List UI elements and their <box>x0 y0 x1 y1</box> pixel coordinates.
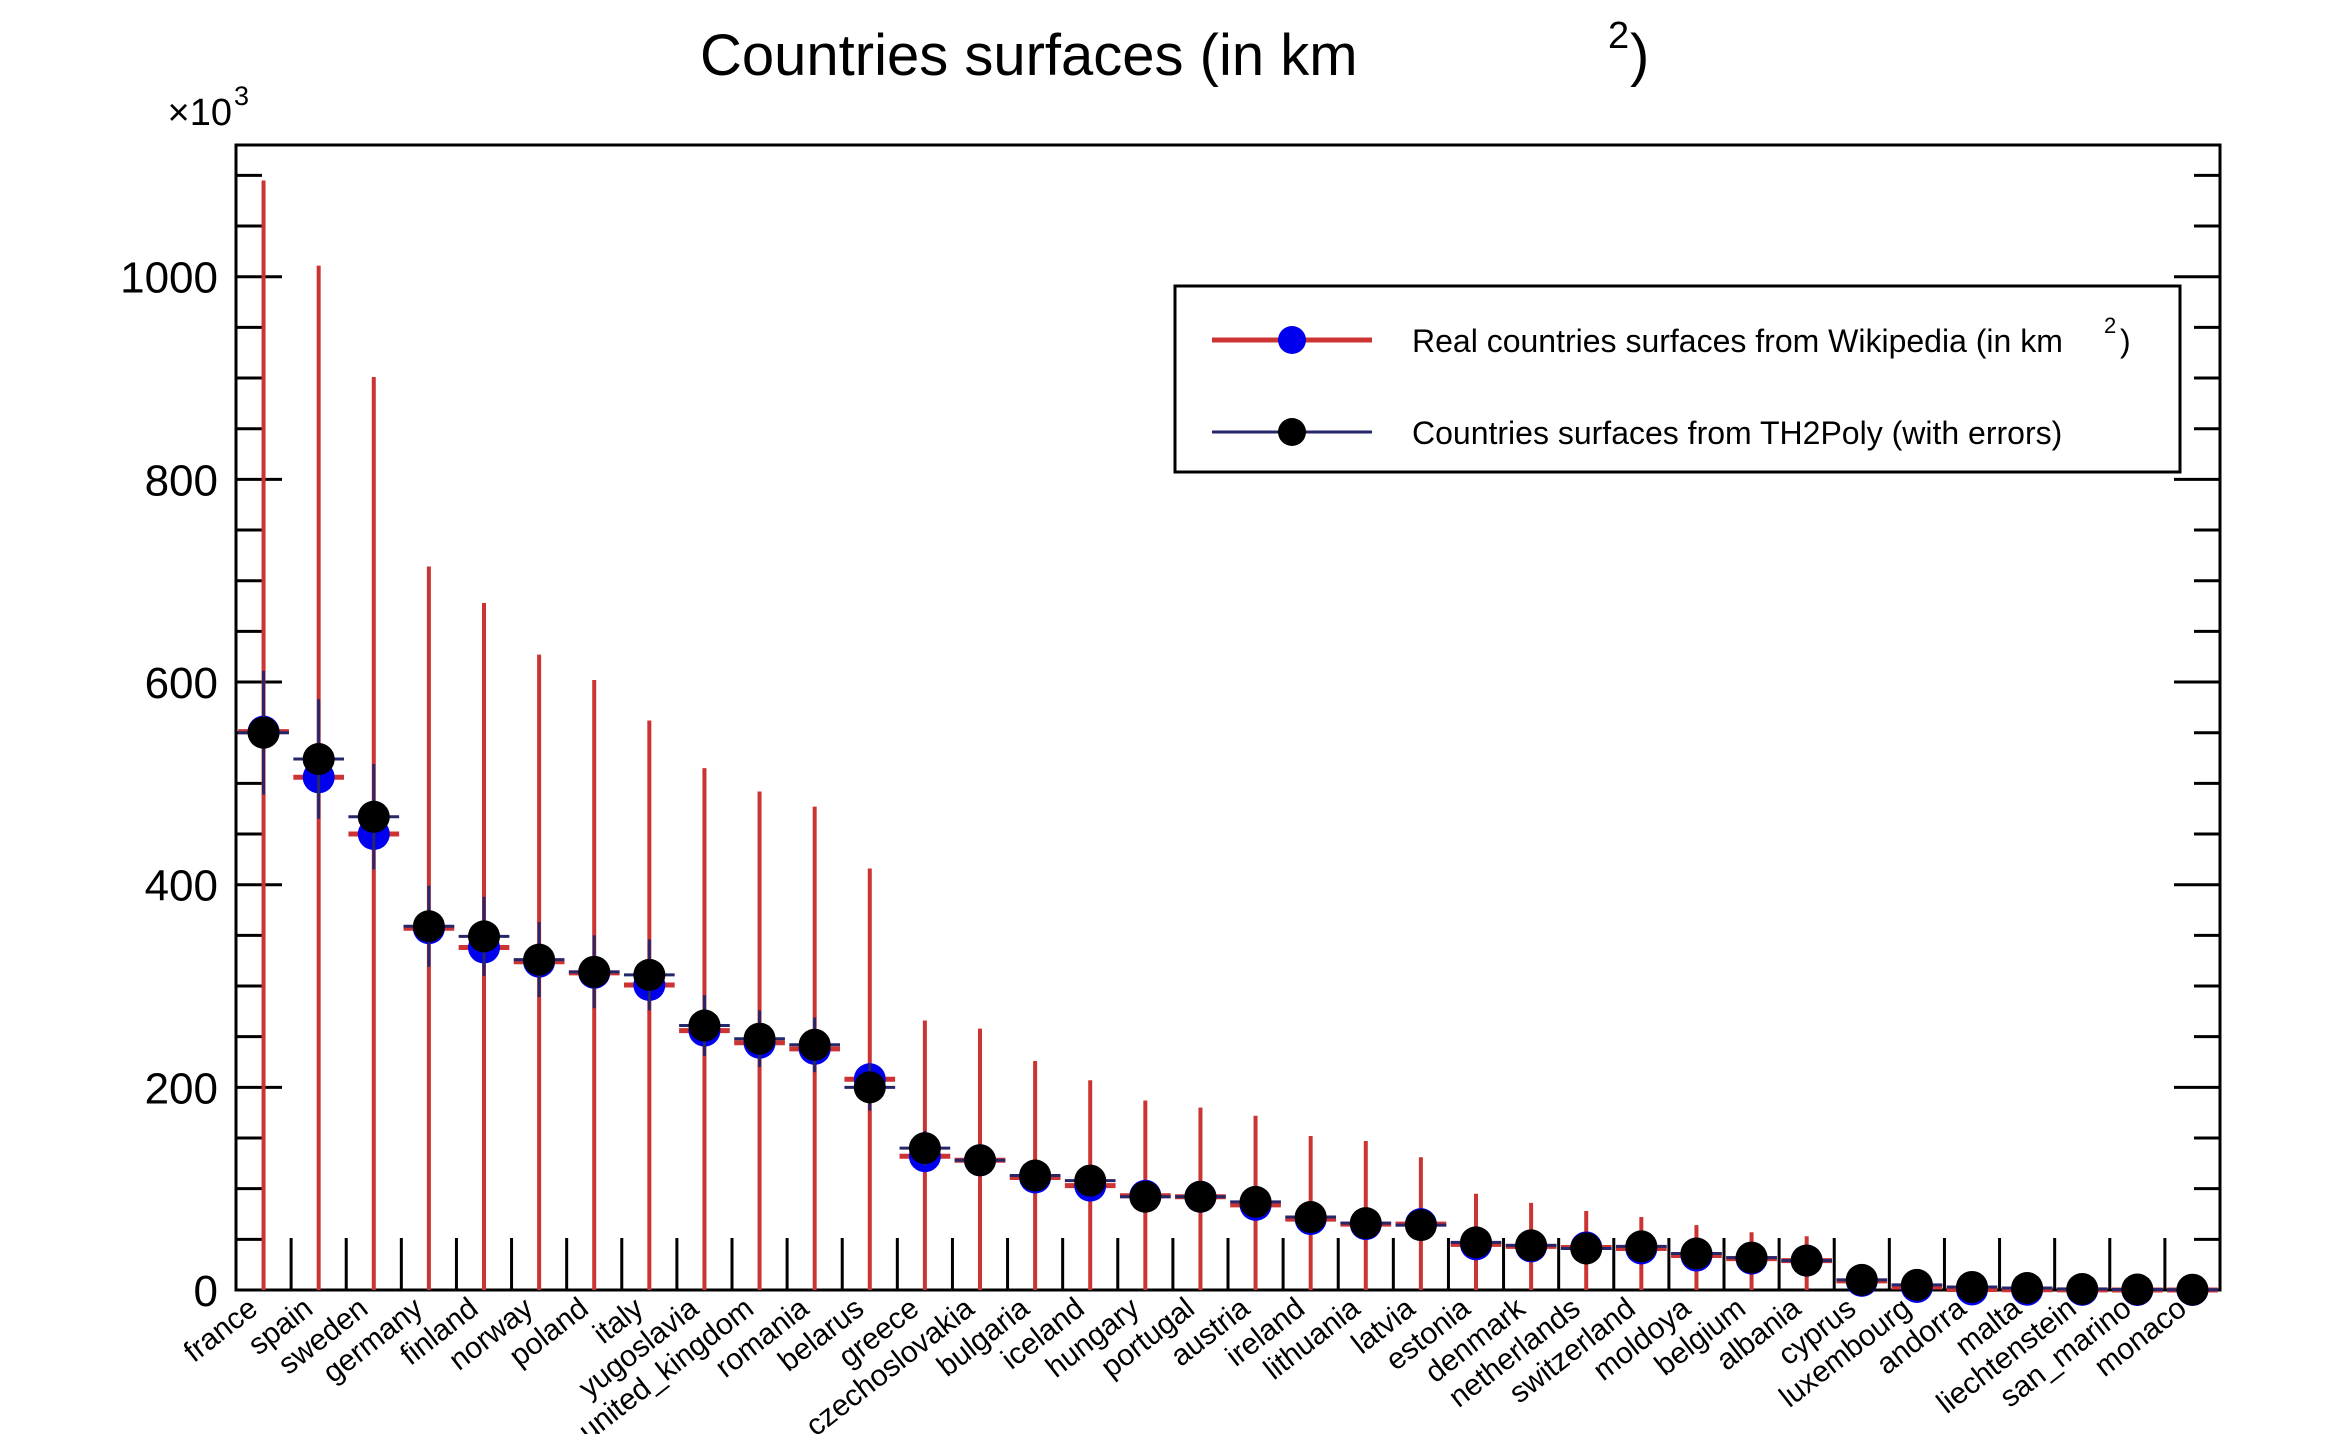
data-point-th2poly <box>1956 1271 1988 1303</box>
data-point-th2poly <box>1680 1238 1712 1270</box>
data-point-th2poly <box>1350 1207 1382 1239</box>
legend-label-wikipedia: Real countries surfaces from Wikipedia (… <box>1412 323 2063 359</box>
data-point-th2poly <box>1515 1229 1547 1261</box>
data-point-th2poly <box>964 1144 996 1176</box>
data-point-th2poly <box>468 920 500 952</box>
legend-marker-th2poly <box>1278 418 1306 446</box>
data-point-th2poly <box>744 1023 776 1055</box>
data-point-th2poly <box>1846 1264 1878 1296</box>
data-point-th2poly <box>523 944 555 976</box>
data-point-th2poly <box>1405 1209 1437 1241</box>
data-point-th2poly <box>1901 1269 1933 1301</box>
y-tick-label: 1000 <box>120 254 218 303</box>
data-point-th2poly <box>303 743 335 775</box>
data-point-th2poly <box>1074 1165 1106 1197</box>
data-point-th2poly <box>2121 1273 2153 1305</box>
legend-marker-wikipedia <box>1278 326 1306 354</box>
legend-label-th2poly: Countries surfaces from TH2Poly (with er… <box>1412 415 2062 451</box>
data-point-th2poly <box>854 1071 886 1103</box>
y-tick-label: 0 <box>194 1267 218 1316</box>
chart-title-main: Countries surfaces (in km <box>700 23 1358 88</box>
data-point-th2poly <box>1019 1160 1051 1192</box>
y-tick-label: 400 <box>145 862 218 911</box>
data-point-th2poly <box>248 717 280 749</box>
data-point-th2poly <box>358 801 390 833</box>
data-point-th2poly <box>578 956 610 988</box>
chart-title-superscript: 2 <box>1608 15 1629 57</box>
data-point-th2poly <box>1240 1186 1272 1218</box>
data-point-th2poly <box>1129 1181 1161 1213</box>
chart-background <box>0 0 2328 1434</box>
data-point-th2poly <box>1184 1181 1216 1213</box>
y-exponent-sup: 3 <box>234 81 249 111</box>
chart-canvas: Countries surfaces (in km 2 ) ×10 3 0200… <box>0 0 2328 1434</box>
data-point-th2poly <box>633 959 665 991</box>
chart-legend[interactable]: Real countries surfaces from Wikipedia (… <box>1175 286 2180 472</box>
data-point-th2poly <box>799 1029 831 1061</box>
data-point-th2poly <box>413 910 445 942</box>
data-point-th2poly <box>909 1132 941 1164</box>
data-point-th2poly <box>2011 1272 2043 1304</box>
data-point-th2poly <box>1736 1242 1768 1274</box>
y-tick-label: 600 <box>145 659 218 708</box>
y-exponent-base: ×10 <box>168 92 232 134</box>
countries-surfaces-chart: Countries surfaces (in km 2 ) ×10 3 0200… <box>0 0 2328 1434</box>
data-point-th2poly <box>2176 1274 2208 1306</box>
data-point-th2poly <box>1570 1232 1602 1264</box>
chart-title-tail: ) <box>1630 23 1649 88</box>
legend-label-wikipedia-tail: ) <box>2120 323 2131 359</box>
y-tick-label: 800 <box>145 456 218 505</box>
data-point-th2poly <box>2066 1273 2098 1305</box>
data-point-th2poly <box>1625 1230 1657 1262</box>
data-point-th2poly <box>1460 1226 1492 1258</box>
data-point-th2poly <box>1791 1245 1823 1277</box>
legend-label-wikipedia-sup: 2 <box>2104 313 2116 338</box>
data-point-th2poly <box>688 1010 720 1042</box>
y-tick-label: 200 <box>145 1064 218 1113</box>
data-point-th2poly <box>1295 1201 1327 1233</box>
